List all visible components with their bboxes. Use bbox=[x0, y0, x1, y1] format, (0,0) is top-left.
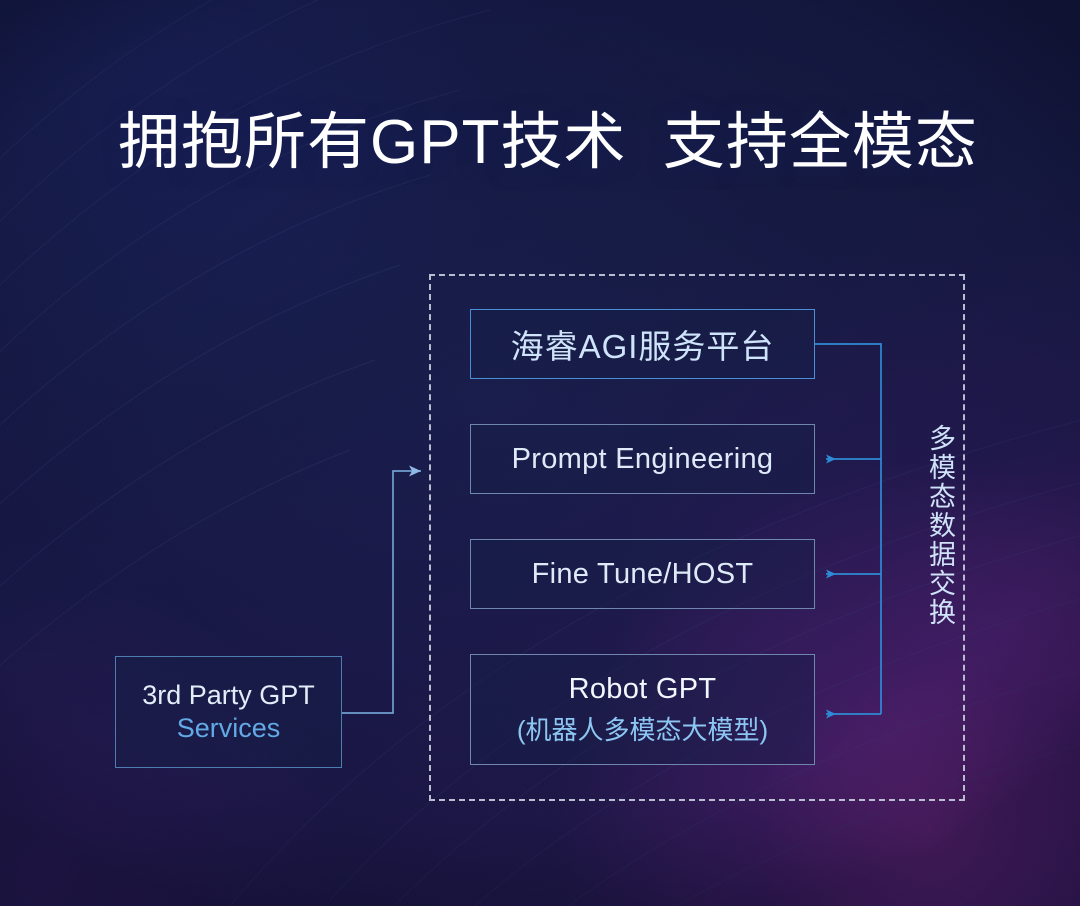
slide-canvas: 拥抱所有GPT技术 支持全模态 海睿AGI服务平台 Prompt Engi bbox=[0, 0, 1080, 906]
node-prompt-engineering[interactable]: Prompt Engineering bbox=[470, 424, 815, 494]
node-robot-gpt-label: Robot GPT bbox=[569, 673, 717, 706]
node-third-party-gpt-services[interactable]: 3rd Party GPT Services bbox=[115, 656, 342, 768]
node-robot-gpt[interactable]: Robot GPT (机器人多模态大模型) bbox=[470, 654, 815, 765]
node-agi-platform-label: 海睿AGI服务平台 bbox=[511, 320, 775, 368]
node-third-party-gpt-services-label: 3rd Party GPT bbox=[142, 680, 315, 711]
node-fine-tune-host[interactable]: Fine Tune/HOST bbox=[470, 539, 815, 609]
node-third-party-gpt-services-sublabel: Services bbox=[177, 713, 281, 744]
node-agi-platform[interactable]: 海睿AGI服务平台 bbox=[470, 309, 815, 379]
page-title: 拥抱所有GPT技术 支持全模态 bbox=[118, 110, 978, 177]
node-robot-gpt-sublabel: (机器人多模态大模型) bbox=[517, 710, 768, 747]
node-fine-tune-host-label: Fine Tune/HOST bbox=[532, 558, 754, 591]
node-prompt-engineering-label: Prompt Engineering bbox=[512, 443, 774, 476]
side-label-multimodal-data-exchange: 多模态数据交换 bbox=[911, 424, 955, 627]
